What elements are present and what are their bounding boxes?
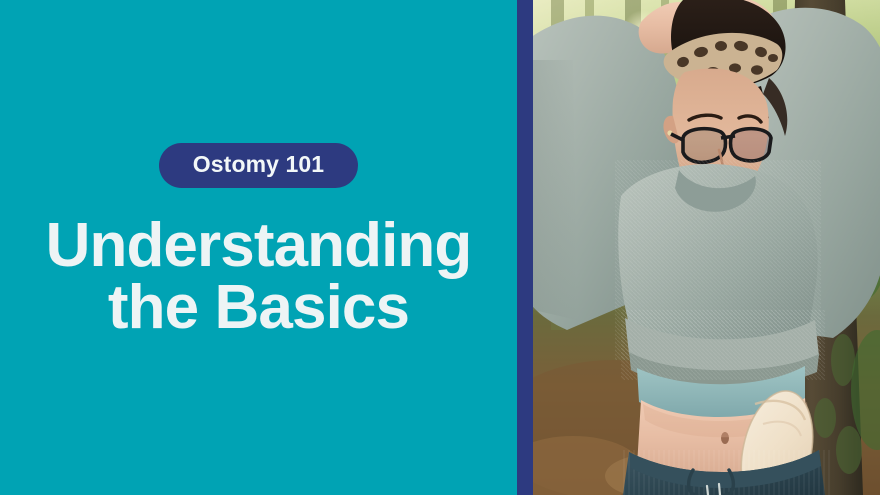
category-badge: Ostomy 101 (159, 143, 358, 188)
left-text-panel: Ostomy 101 Understanding the Basics (0, 0, 517, 495)
hero-photo-illustration (533, 0, 880, 495)
page-title-line-2: the Basics (46, 277, 472, 338)
panel-content-group: Ostomy 101 Understanding the Basics (0, 143, 517, 338)
hero-photo (533, 0, 880, 495)
page-title: Understanding the Basics (46, 215, 472, 338)
vertical-navy-divider (517, 0, 533, 495)
slide-canvas: Ostomy 101 Understanding the Basics (0, 0, 880, 495)
page-title-line-1: Understanding (46, 215, 472, 276)
